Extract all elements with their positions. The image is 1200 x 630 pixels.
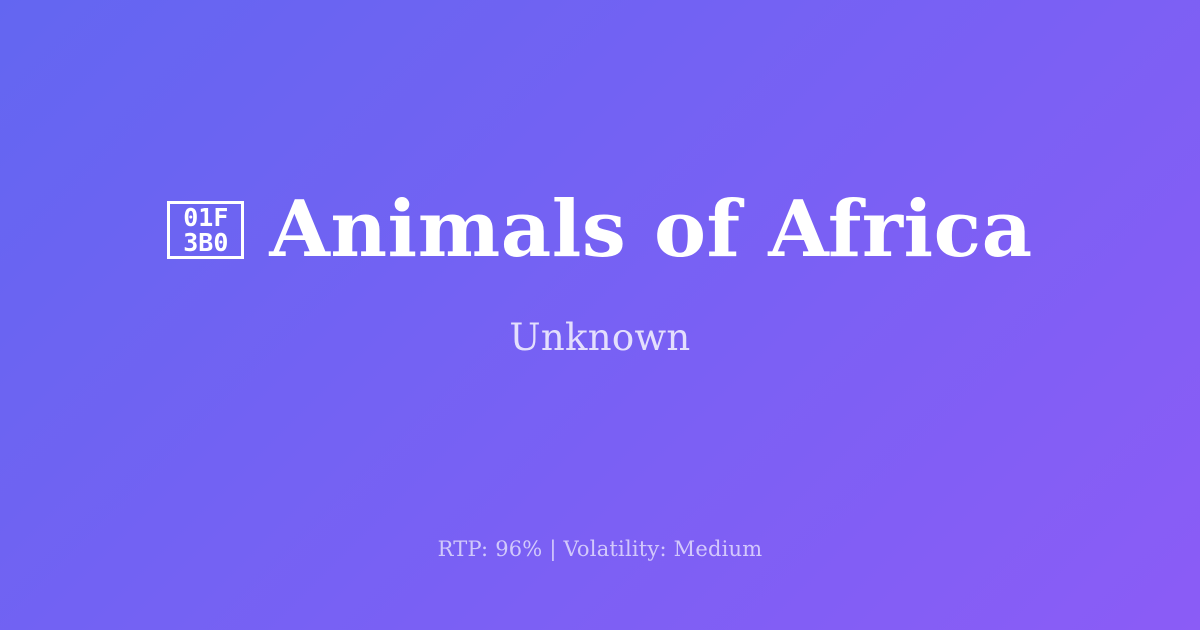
tofu-codepoint-bottom: 3B0 (183, 230, 228, 255)
page-title: Animals of Africa (269, 186, 1032, 274)
title-row: 01F 3B0 Animals of Africa (167, 186, 1032, 274)
slot-machine-emoji-icon: 01F 3B0 (167, 201, 244, 259)
game-meta-line: RTP: 96% | Volatility: Medium (0, 536, 1200, 562)
og-card: 01F 3B0 Animals of Africa Unknown RTP: 9… (0, 0, 1200, 630)
tofu-codepoint-top: 01F (183, 205, 228, 230)
page-subtitle: Unknown (509, 316, 690, 360)
